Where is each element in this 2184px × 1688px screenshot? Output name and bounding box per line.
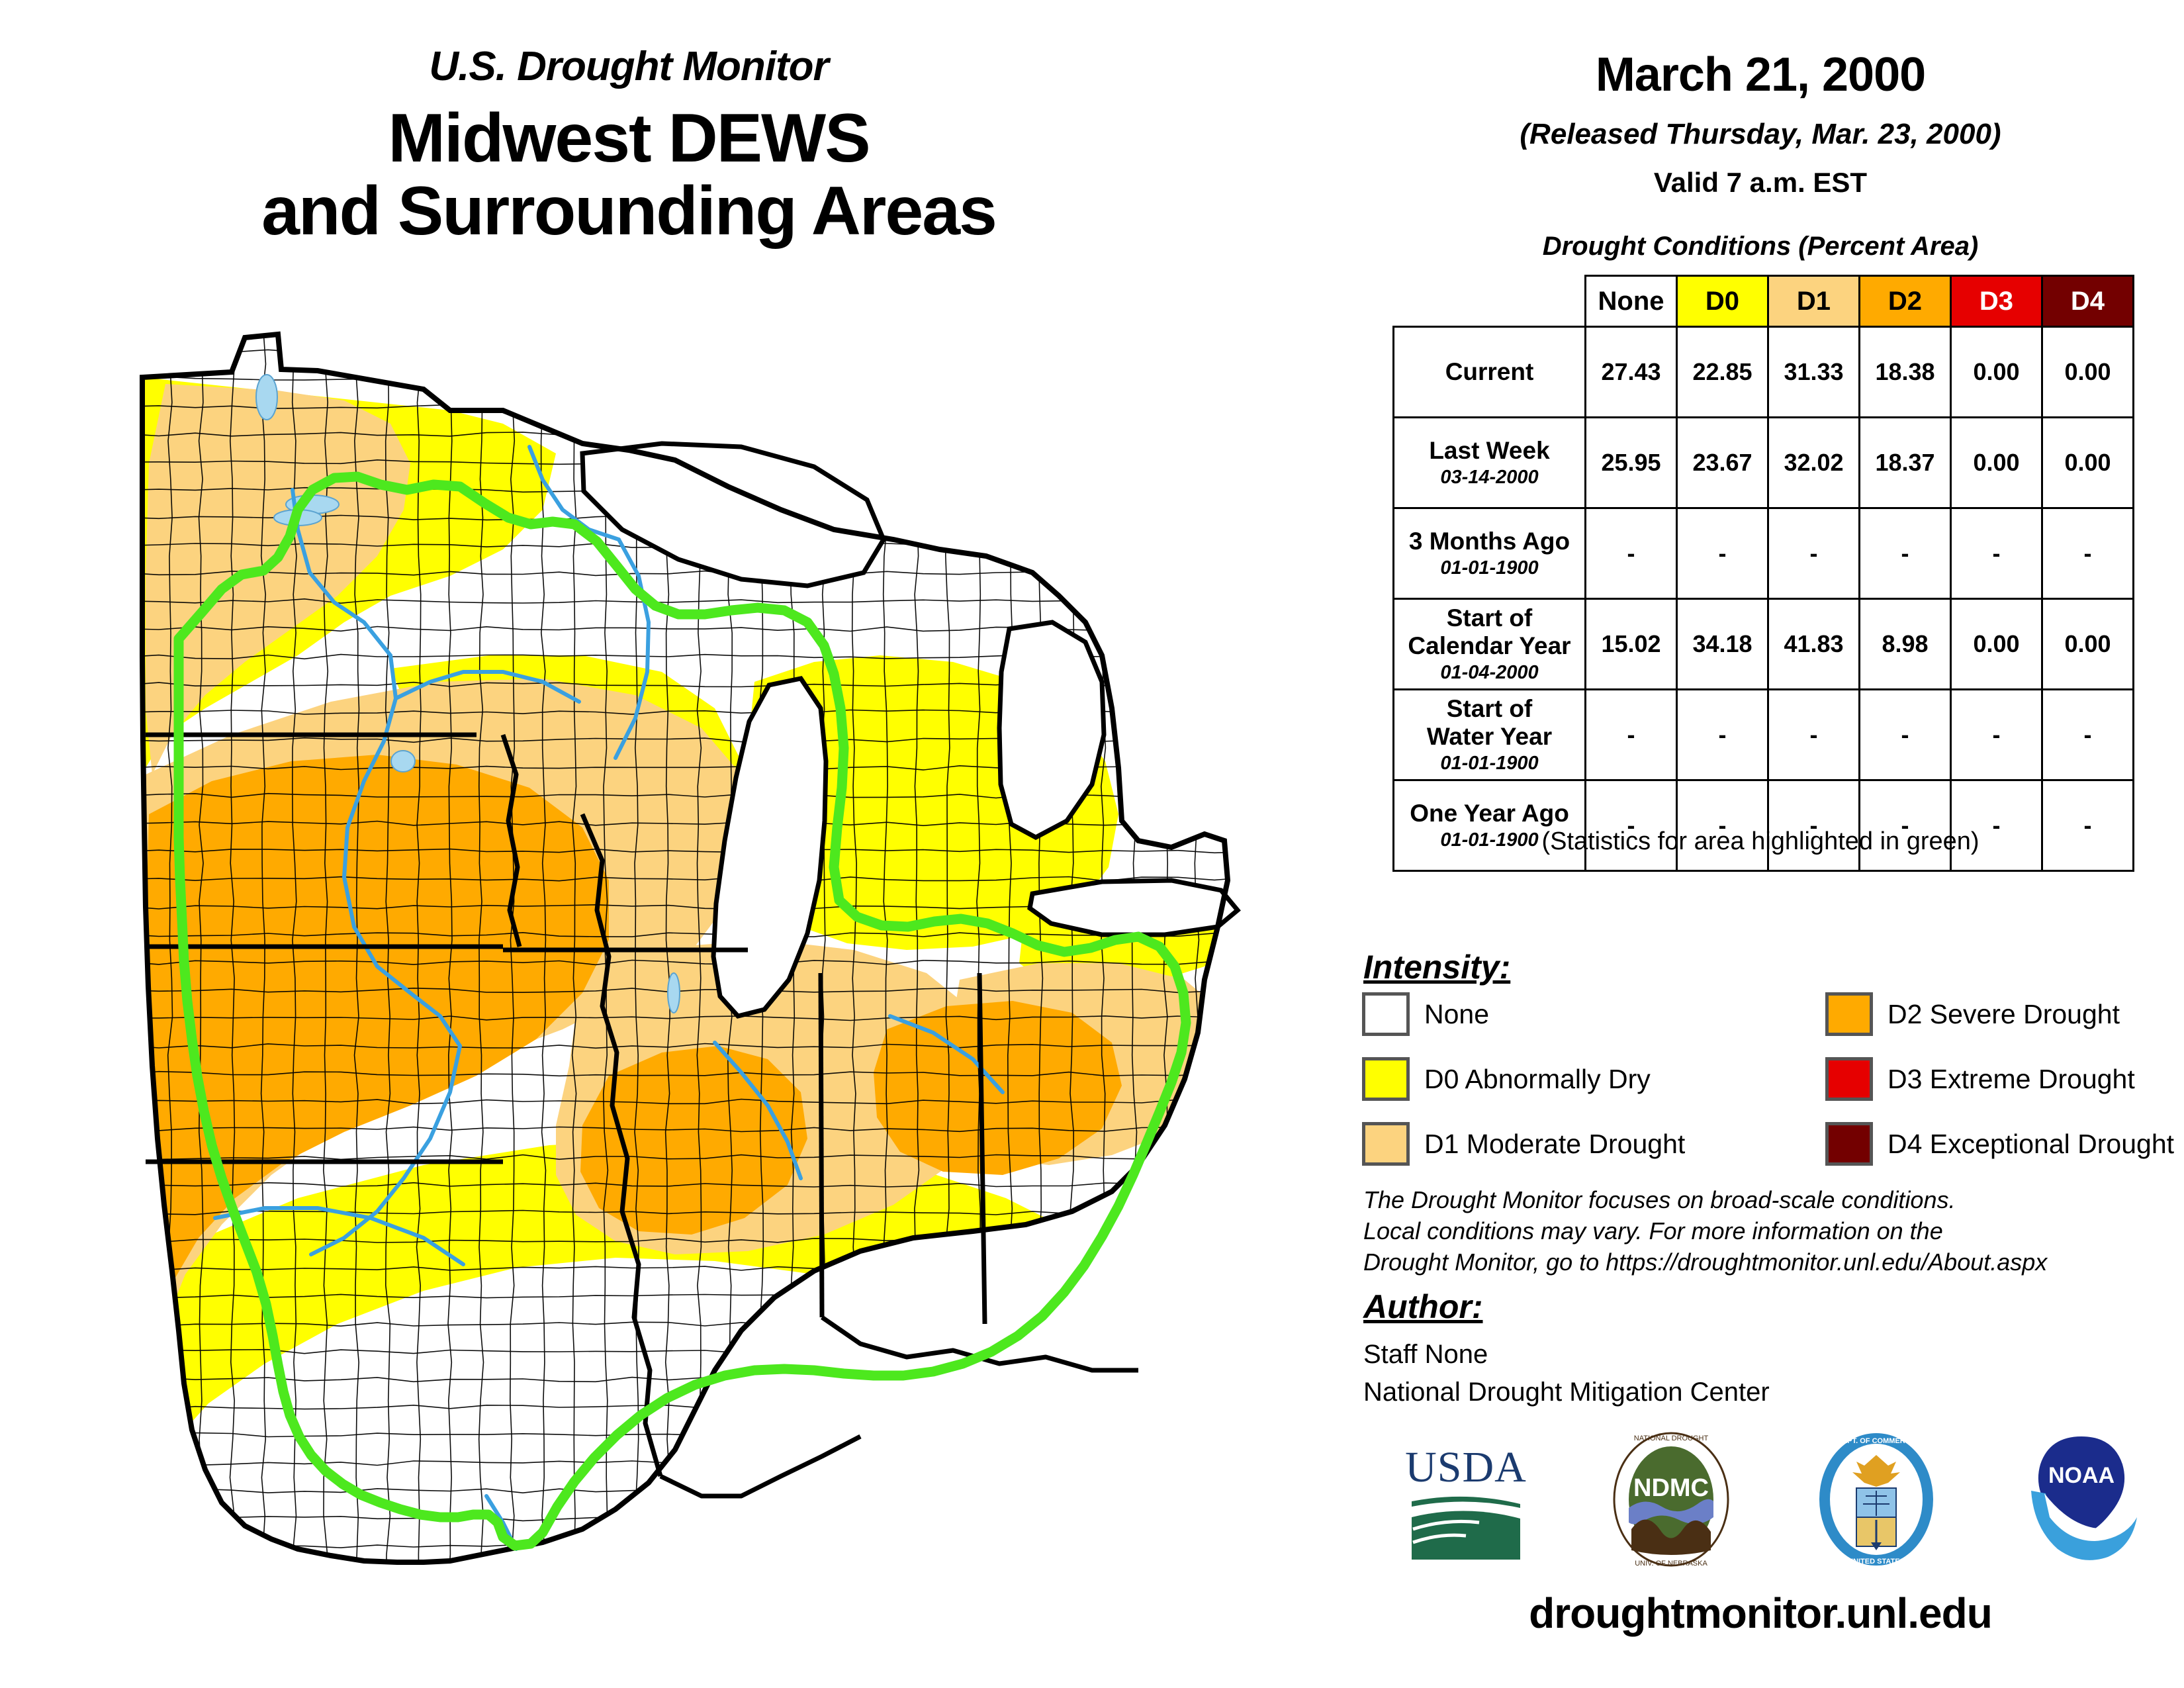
table-cell: -: [1768, 780, 1860, 871]
svg-text:NOAA: NOAA: [2048, 1463, 2115, 1488]
table-cell: 18.37: [1860, 418, 1951, 508]
table-row-sublabel: 03-14-2000: [1397, 467, 1582, 488]
table-row-label: Start ofCalendar Year01-04-2000: [1394, 599, 1586, 690]
legend-column-left: NoneD0 Abnormally DryD1 Moderate Drought: [1362, 990, 1685, 1184]
legend-item: D0 Abnormally Dry: [1362, 1055, 1685, 1103]
text-line: The Drought Monitor focuses on broad-sca…: [1363, 1185, 2184, 1216]
report-date: March 21, 2000: [1337, 48, 2184, 102]
right-panel: March 21, 2000 (Released Thursday, Mar. …: [1337, 0, 2184, 1688]
legend-item: D2 Severe Drought: [1825, 990, 2174, 1039]
table-col-header-d3: D3: [1951, 276, 2042, 327]
table-cell: -: [1860, 780, 1951, 871]
table-cell: -: [1586, 690, 1677, 780]
legend-swatch: [1825, 992, 1873, 1036]
usda-logo: USDA: [1400, 1430, 1532, 1569]
svg-text:NATIONAL DROUGHT: NATIONAL DROUGHT: [1634, 1434, 1709, 1442]
site-url[interactable]: droughtmonitor.unl.edu: [1337, 1589, 2184, 1638]
table-cell: -: [2042, 690, 2134, 780]
table-row-label: One Year Ago01-01-1900: [1394, 780, 1586, 871]
legend-swatch: [1362, 992, 1410, 1036]
table-cell: -: [1951, 780, 2042, 871]
text-line: Staff None: [1363, 1336, 1770, 1374]
table-cell: 32.02: [1768, 418, 1860, 508]
table-row-label: Start ofWater Year01-01-1900: [1394, 690, 1586, 780]
agency-logos: USDA NDMC NATIONAL DROUGHT UNIV. OF NEBR…: [1363, 1423, 2184, 1575]
text-line: Drought Monitor, go to https://droughtmo…: [1363, 1247, 2184, 1278]
author-text: Staff NoneNational Drought Mitigation Ce…: [1363, 1336, 1770, 1411]
table-cell: -: [1677, 780, 1768, 871]
table-cell: 23.67: [1677, 418, 1768, 508]
table-col-header-d0: D0: [1677, 276, 1768, 327]
table-cell: 0.00: [1951, 418, 2042, 508]
legend-item: D1 Moderate Drought: [1362, 1119, 1685, 1168]
table-col-header-d2: D2: [1860, 276, 1951, 327]
table-cell: 22.85: [1677, 327, 1768, 418]
table-cell: -: [1951, 508, 2042, 599]
table-cell: 15.02: [1586, 599, 1677, 690]
table-row-sublabel: 01-01-1900: [1397, 753, 1582, 774]
legend-item: D4 Exceptional Drought: [1825, 1119, 2174, 1168]
author-heading: Author:: [1363, 1288, 1483, 1326]
svg-text:UNIV. OF NEBRASKA: UNIV. OF NEBRASKA: [1635, 1560, 1707, 1568]
svg-text:USDA: USDA: [1405, 1443, 1527, 1491]
table-header-row: NoneD0D1D2D3D4: [1394, 276, 2134, 327]
report-released: (Released Thursday, Mar. 23, 2000): [1337, 118, 2184, 151]
table-col-header-none: None: [1586, 276, 1677, 327]
legend-label: D3 Extreme Drought: [1888, 1064, 2135, 1095]
page-title-line2: and Surrounding Areas: [0, 175, 1257, 248]
table-row-label: Current: [1394, 327, 1586, 418]
table-cell: 25.95: [1586, 418, 1677, 508]
drought-conditions-table: NoneD0D1D2D3D4 Current27.4322.8531.3318.…: [1392, 275, 2134, 872]
table-col-header-d1: D1: [1768, 276, 1860, 327]
drought-map[interactable]: [79, 311, 1271, 1628]
page-eyebrow-title: U.S. Drought Monitor: [0, 46, 1257, 87]
legend-label: D1 Moderate Drought: [1424, 1129, 1685, 1160]
table-cell: 0.00: [1951, 327, 2042, 418]
table-row-label: 3 Months Ago01-01-1900: [1394, 508, 1586, 599]
text-line: Local conditions may vary. For more info…: [1363, 1216, 2184, 1247]
text-line: National Drought Mitigation Center: [1363, 1374, 1770, 1411]
table-cell: -: [1768, 690, 1860, 780]
table-col-header-d4: D4: [2042, 276, 2134, 327]
table-cell: -: [1951, 690, 2042, 780]
page-title-line1: Midwest DEWS: [0, 102, 1257, 175]
table-row: Current27.4322.8531.3318.380.000.00: [1394, 327, 2134, 418]
table-cell: 31.33: [1768, 327, 1860, 418]
table-cell: -: [1860, 508, 1951, 599]
doc-logo: DEPT. OF COMMERCE UNITED STATES: [1810, 1430, 1942, 1569]
table-row-sublabel: 01-01-1900: [1397, 557, 1582, 579]
intensity-heading: Intensity:: [1363, 948, 1510, 986]
table-cell: 0.00: [2042, 599, 2134, 690]
legend-swatch: [1362, 1057, 1410, 1101]
stats-table-caption: Drought Conditions (Percent Area): [1337, 232, 2184, 261]
noaa-logo: NOAA: [2015, 1430, 2148, 1569]
table-row: Start ofWater Year01-01-1900------: [1394, 690, 2134, 780]
legend-swatch: [1362, 1122, 1410, 1166]
table-cell: -: [1586, 780, 1677, 871]
drought-map-svg[interactable]: [79, 311, 1271, 1628]
svg-text:UNITED STATES: UNITED STATES: [1848, 1558, 1905, 1566]
svg-text:DEPT. OF COMMERCE: DEPT. OF COMMERCE: [1837, 1437, 1915, 1445]
stats-table-note: (Statistics for area highlighted in gree…: [1337, 827, 2184, 856]
legend-item: D3 Extreme Drought: [1825, 1055, 2174, 1103]
table-row-sublabel: 01-04-2000: [1397, 662, 1582, 683]
table-cell: 18.38: [1860, 327, 1951, 418]
table-cell: 0.00: [2042, 327, 2134, 418]
table-cell: -: [1586, 508, 1677, 599]
table-cell: 0.00: [2042, 418, 2134, 508]
table-cell: 34.18: [1677, 599, 1768, 690]
legend-label: None: [1424, 999, 1489, 1030]
legend-label: D4 Exceptional Drought: [1888, 1129, 2174, 1160]
legend-label: D0 Abnormally Dry: [1424, 1064, 1651, 1095]
disclaimer-text: The Drought Monitor focuses on broad-sca…: [1363, 1185, 2184, 1278]
table-cell: -: [2042, 780, 2134, 871]
table-row: 3 Months Ago01-01-1900------: [1394, 508, 2134, 599]
table-row: One Year Ago01-01-1900------: [1394, 780, 2134, 871]
table-cell: 27.43: [1586, 327, 1677, 418]
table-cell: -: [1677, 508, 1768, 599]
svg-text:NDMC: NDMC: [1633, 1474, 1709, 1502]
table-row-label: Last Week03-14-2000: [1394, 418, 1586, 508]
table-row: Start ofCalendar Year01-04-200015.0234.1…: [1394, 599, 2134, 690]
table-cell: -: [2042, 508, 2134, 599]
legend-item: None: [1362, 990, 1685, 1039]
legend-swatch: [1825, 1057, 1873, 1101]
report-valid-time: Valid 7 a.m. EST: [1337, 167, 2184, 199]
table-row: Last Week03-14-200025.9523.6732.0218.370…: [1394, 418, 2134, 508]
table-cell: -: [1860, 690, 1951, 780]
page-title: Midwest DEWS and Surrounding Areas: [0, 102, 1257, 248]
table-body: Current27.4322.8531.3318.380.000.00Last …: [1394, 327, 2134, 871]
legend-column-right: D2 Severe DroughtD3 Extreme DroughtD4 Ex…: [1825, 990, 2174, 1184]
table-cell: 8.98: [1860, 599, 1951, 690]
title-block: U.S. Drought Monitor Midwest DEWS and Su…: [0, 46, 1257, 248]
table-cell: -: [1677, 690, 1768, 780]
left-panel: U.S. Drought Monitor Midwest DEWS and Su…: [0, 0, 1337, 1688]
legend-swatch: [1825, 1122, 1873, 1166]
table-cell: 41.83: [1768, 599, 1860, 690]
table-cell: 0.00: [1951, 599, 2042, 690]
table-cell: -: [1768, 508, 1860, 599]
legend-label: D2 Severe Drought: [1888, 999, 2120, 1030]
ndmc-logo: NDMC NATIONAL DROUGHT UNIV. OF NEBRASKA: [1605, 1430, 1737, 1569]
table-corner-cell: [1394, 276, 1586, 327]
